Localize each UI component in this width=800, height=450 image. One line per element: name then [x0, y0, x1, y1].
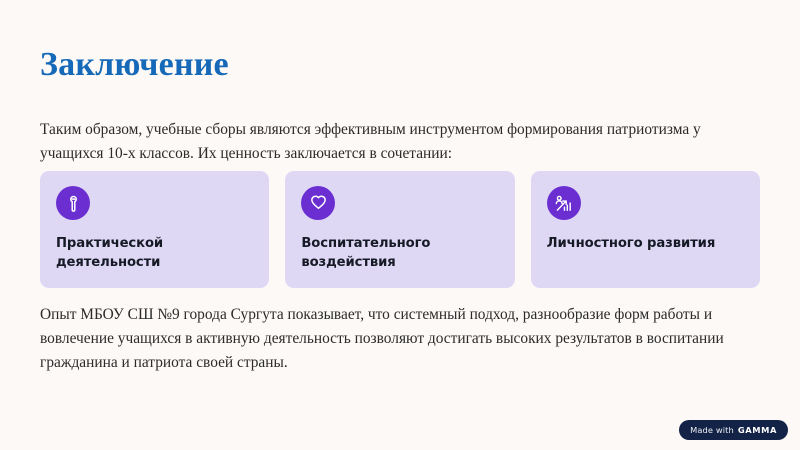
- person-growth-chart-icon: [547, 186, 581, 220]
- slide-canvas: Заключение Таким образом, учебные сборы …: [0, 0, 800, 450]
- badge-prefix-label: Made with: [690, 425, 734, 435]
- feature-card-practical[interactable]: Практической деятельности: [40, 171, 269, 288]
- feature-card-label: Личностного развития: [547, 234, 744, 253]
- page-title: Заключение: [40, 45, 229, 85]
- feature-card-label: Воспитательного воздействия: [301, 234, 451, 272]
- made-with-gamma-badge[interactable]: Made with GAMMA: [679, 420, 788, 440]
- wrench-icon: [56, 186, 90, 220]
- intro-paragraph: Таким образом, учебные сборы являются эф…: [40, 118, 768, 166]
- heart-icon: [301, 186, 335, 220]
- outro-paragraph: Опыт МБОУ СШ №9 города Сургута показывае…: [40, 303, 770, 375]
- feature-card-upbringing[interactable]: Воспитательного воздействия: [285, 171, 514, 288]
- feature-card-personal-growth[interactable]: Личностного развития: [531, 171, 760, 288]
- feature-card-label: Практической деятельности: [56, 234, 206, 272]
- feature-card-row: Практической деятельности Воспитательног…: [40, 171, 760, 288]
- badge-brand-label: GAMMA: [738, 425, 777, 435]
